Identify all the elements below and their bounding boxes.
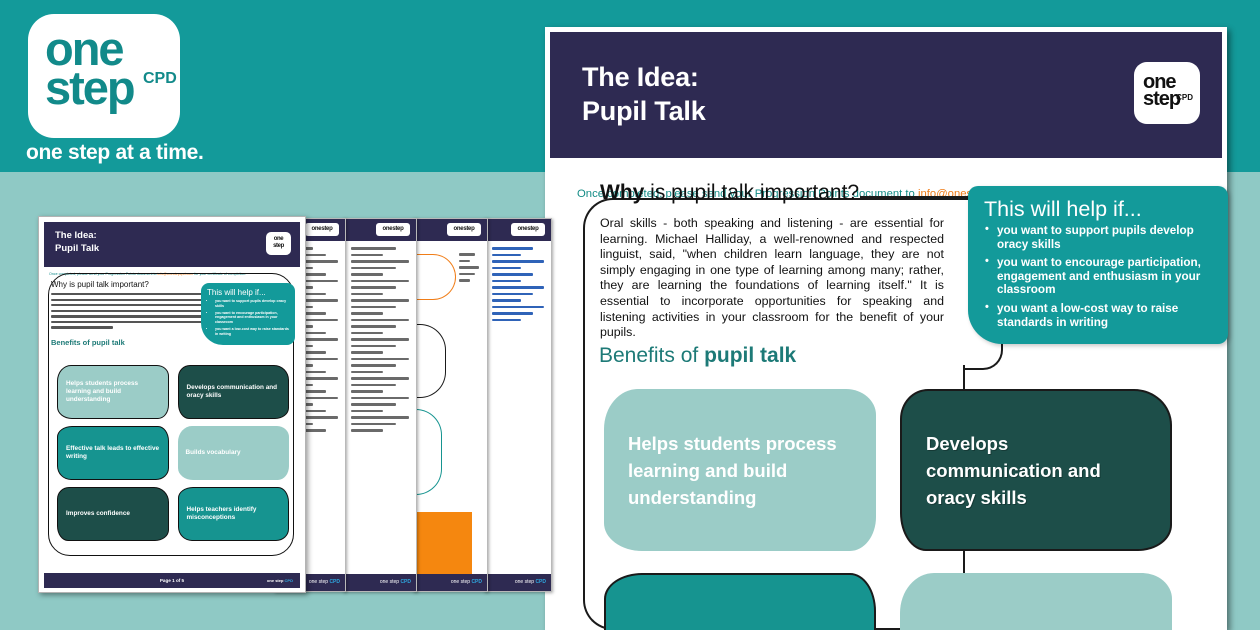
stacked-page-callout-orange [413,254,456,300]
brand-tagline: one step at a time. [26,141,204,165]
brand-logo: one step CPD [28,14,180,138]
document-thumbnail-stack[interactable]: onestep one step CPD onestep one step CP… [38,216,516,596]
benefit-box-builds-vocabulary: Builds vocabulary [900,573,1172,630]
help-box-item: you want a low-cost way to raise standar… [984,302,1214,329]
brand-logo-mark: CPD [143,70,177,88]
thumbnail-help-item: you want to support pupils develop oracy… [215,299,289,308]
thumbnail-help-box: This will help if... you want to support… [201,283,295,345]
thumbnail-footer: Page 1 of 5 one step CPD [44,573,300,588]
stacked-page-logo: onestep [305,223,339,236]
thumbnail-benefit-box: Helps teachers identify misconceptions [178,487,290,541]
benefits-section-heading: Benefits of pupil talk [599,344,796,368]
thumbnail-why-body [51,293,207,329]
stacked-page-footer: one step CPD [485,574,551,591]
thumbnail-logo-line1: one [274,236,283,242]
benefits-heading-bold: pupil talk [704,344,796,367]
help-box-list: you want to support pupils develop oracy… [984,224,1214,329]
thumbnail-benefit-box: Develops communication and oracy skills [178,365,290,419]
header-logo: one step CPD [1134,62,1200,124]
thumbnail-notice-email: info@onestepcpd.com [157,272,193,276]
thumbnail-help-title: This will help if... [207,288,289,297]
stacked-page-text [485,241,551,331]
stacked-page-3[interactable]: onestep one step CPD [343,218,417,592]
benefits-grid: Helps students process learning and buil… [604,389,1172,630]
benefits-heading-rest: Benefits of [599,344,704,367]
brand-logo-line2: step [45,66,134,110]
help-box-item: you want to support pupils develop oracy… [984,224,1214,251]
thumbnail-benefit-box: Improves confidence [57,487,169,541]
stacked-page-header: onestep [414,219,487,241]
benefit-box-develops-communication: Develops communication and oracy skills [900,389,1172,551]
stacked-page-callout-teal [413,409,442,495]
thumbnail-help-item: you want a low-cost way to raise standar… [215,327,289,336]
help-box-item: you want to encourage participation, eng… [984,256,1214,297]
help-box-title: This will help if... [984,197,1214,221]
page-title-line1: The Idea: [582,62,699,92]
benefit-box-effective-talk: Effective talk leads to effective writin… [604,573,876,630]
thumbnail-logo-line2: step [273,243,284,249]
thumbnail-notice: Once completed, please send your Progres… [49,272,305,276]
stacked-page-logo: onestep [376,223,410,236]
document-header: The Idea: Pupil Talk one step CPD [550,32,1222,158]
thumbnail-title: The Idea: Pupil Talk [55,230,99,255]
stacked-page-header: onestep [485,219,551,241]
thumbnail-footer-brand: one step CPD [267,573,293,588]
page-title-line2: Pupil Talk [582,96,706,126]
header-logo-mark: CPD [1176,93,1193,102]
thumbnail-header: The Idea: Pupil Talk one step [44,222,300,267]
stacked-page-text [344,241,416,442]
why-heading-bold: Why [600,181,644,204]
stacked-page-header: onestep [344,219,416,241]
stacked-page-footer: one step CPD [414,574,487,591]
thumbnail-help-item: you want to encourage participation, eng… [215,311,289,325]
thumbnail-notice-before: Once completed, please send your Progres… [49,272,157,276]
thumbnail-title-line2: Pupil Talk [55,243,99,254]
thumbnail-logo: one step [266,232,291,255]
stacked-page-4[interactable]: onestep one step CPD [413,218,488,592]
header-logo-line2: step [1143,90,1180,109]
why-heading-rest: is pupil talk important? [644,181,859,204]
stacked-page-orange-block [414,512,472,574]
stacked-page-footer: one step CPD [344,574,416,591]
why-section-heading: Why is pupil talk important? [600,181,859,205]
stacked-page-5[interactable]: onestep one step CPD [484,218,552,592]
help-box: This will help if... you want to support… [968,186,1228,344]
thumbnail-footer-page: Page 1 of 5 [160,578,184,583]
stacked-page-text [452,247,486,292]
stacked-page-callout-dark [413,324,446,398]
panel-right-edge [1227,27,1260,630]
thumbnail-benefit-grid: Helps students process learning and buil… [57,365,289,541]
thumbnail-front-page[interactable]: The Idea: Pupil Talk one step Once compl… [38,216,306,593]
stacked-page-logo: onestep [447,223,481,236]
thumbnail-benefit-box: Effective talk leads to effective writin… [57,426,169,480]
stacked-page-logo: onestep [511,223,545,236]
thumbnail-benefit-box: Builds vocabulary [178,426,290,480]
page-title: The Idea: Pupil Talk [582,60,706,128]
why-section-body: Oral skills - both speaking and listenin… [600,216,944,341]
thumbnail-notice-after: for your certificate of completion. [193,272,246,276]
thumbnail-title-line1: The Idea: [55,230,97,241]
thumbnail-benefit-box: Helps students process learning and buil… [57,365,169,419]
thumbnail-help-list: you want to support pupils develop oracy… [215,299,289,336]
benefit-box-helps-students: Helps students process learning and buil… [604,389,876,551]
